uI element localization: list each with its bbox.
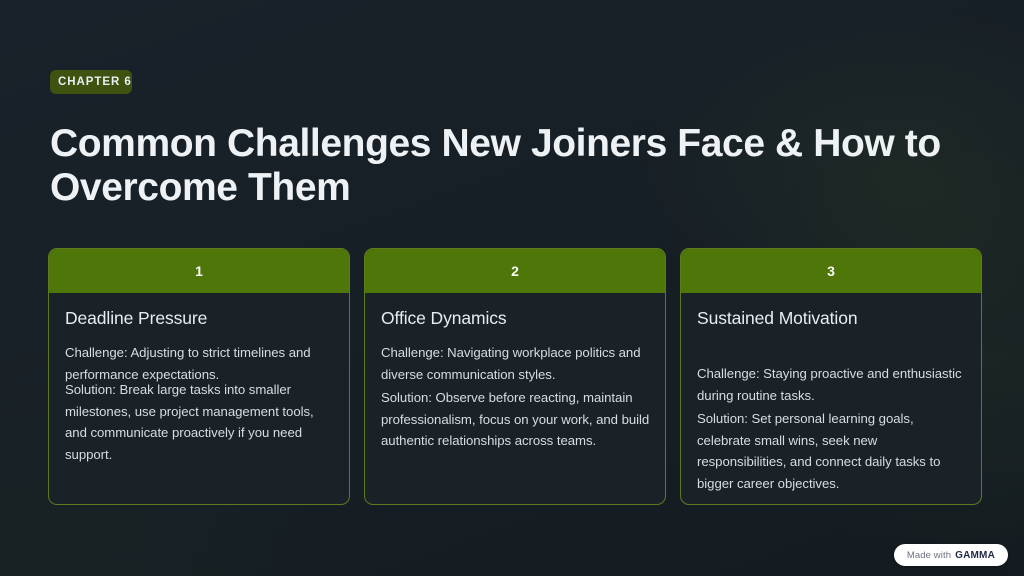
card-header: 3 — [681, 249, 981, 293]
chapter-badge-label: CHAPTER 6 — [58, 70, 132, 94]
challenge-card: 2 Office Dynamics Challenge: Navigating … — [364, 248, 666, 505]
card-number: 3 — [827, 263, 835, 279]
card-header: 1 — [49, 249, 349, 293]
card-challenge-text: Challenge: Navigating workplace politics… — [381, 342, 651, 385]
page-title: Common Challenges New Joiners Face & How… — [50, 122, 960, 210]
gamma-wordmark: GAMMA — [955, 550, 995, 561]
card-solution-text: Solution: Break large tasks into smaller… — [65, 379, 335, 465]
challenge-card: 1 Deadline Pressure Challenge: Adjusting… — [48, 248, 350, 505]
challenge-cards-row: 1 Deadline Pressure Challenge: Adjusting… — [48, 248, 976, 505]
card-solution-text: Solution: Observe before reacting, maint… — [381, 387, 651, 452]
card-title: Sustained Motivation — [697, 308, 857, 329]
card-number: 1 — [195, 263, 203, 279]
made-with-gamma-badge[interactable]: Made with GAMMA — [894, 544, 1008, 566]
card-solution-text: Solution: Set personal learning goals, c… — [697, 408, 967, 494]
card-title: Deadline Pressure — [65, 308, 207, 329]
card-number: 2 — [511, 263, 519, 279]
challenge-card: 3 Sustained Motivation Challenge: Stayin… — [680, 248, 982, 505]
slide-canvas: CHAPTER 6 Common Challenges New Joiners … — [0, 0, 1024, 576]
made-with-label: Made with — [907, 550, 951, 561]
card-header: 2 — [365, 249, 665, 293]
card-challenge-text: Challenge: Staying proactive and enthusi… — [697, 363, 967, 406]
card-title: Office Dynamics — [381, 308, 507, 329]
